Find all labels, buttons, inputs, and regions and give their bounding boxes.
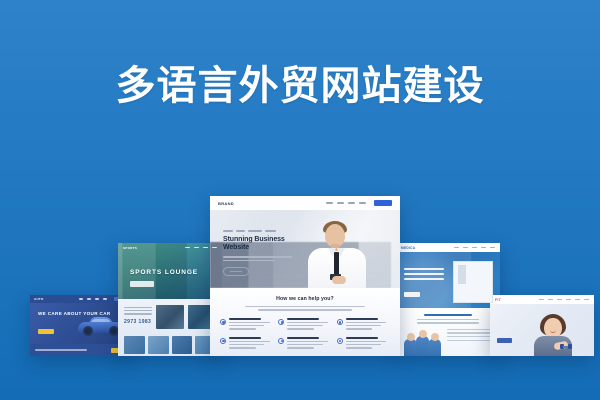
medical-body-text: [447, 329, 494, 356]
business-hero-title: Stunning Business Website: [223, 236, 295, 252]
nav-link[interactable]: [472, 247, 477, 248]
nav-link[interactable]: [185, 247, 190, 248]
nav-link[interactable]: [79, 298, 83, 299]
chart-icon: [337, 319, 343, 325]
mockup-sports-lounge-website[interactable]: SPORTS SPORTS LOUNGE 2973 1983: [118, 243, 222, 356]
nav-link[interactable]: [557, 299, 562, 300]
sports-stat: 2973 1983: [124, 319, 152, 325]
nav-link[interactable]: [539, 299, 544, 300]
nav-link[interactable]: [194, 247, 199, 248]
nav-link[interactable]: [548, 299, 553, 300]
nav-link[interactable]: [481, 247, 486, 248]
medical-split-row: [402, 329, 494, 356]
nav-link[interactable]: [203, 247, 208, 248]
business-hero: Stunning Business Website: [210, 210, 400, 288]
medical-nav-links: [454, 247, 495, 248]
car-footer-bar: [30, 344, 130, 356]
car-hero: WE CARE ABOUT YOUR CAR: [30, 303, 130, 344]
sports-tile-row: [124, 336, 216, 354]
feature-item-design[interactable]: [220, 318, 273, 330]
medical-section-title: [424, 314, 472, 316]
feature-item-development[interactable]: [278, 318, 331, 330]
medical-hero-title: [404, 268, 444, 283]
medical-section-subtitle: [417, 319, 480, 323]
business-help-section: How we can help you?: [210, 288, 400, 356]
nav-link[interactable]: [95, 298, 99, 299]
medical-hero-button[interactable]: [404, 292, 420, 297]
feature-item-marketing[interactable]: [337, 318, 390, 330]
business-logo: BRAND: [218, 201, 234, 206]
mockup-fitness-website[interactable]: FIT: [490, 295, 594, 356]
nav-link[interactable]: [212, 247, 217, 248]
user-icon: [220, 319, 226, 325]
nav-link[interactable]: [584, 299, 589, 300]
nav-link[interactable]: [87, 298, 91, 299]
medical-appointment-form[interactable]: [453, 261, 493, 303]
mockup-business-website[interactable]: BRAND Stunning Business Websi: [210, 196, 400, 356]
business-hero-eyebrow: [223, 230, 295, 232]
business-hero-subtitle: [223, 256, 295, 261]
fitness-hero: [490, 304, 594, 356]
feature-item-fast-support[interactable]: [337, 337, 390, 349]
mockup-medical-website[interactable]: MEDICA: [396, 243, 500, 356]
sports-logo: SPORTS: [123, 246, 137, 250]
medical-navbar: MEDICA: [396, 243, 500, 252]
nav-link[interactable]: [566, 299, 571, 300]
fitness-logo: FIT: [495, 298, 501, 302]
car-navbar: AUTO: [30, 295, 130, 303]
fitness-navbar: FIT: [490, 295, 594, 304]
sports-content: 2973 1983: [118, 299, 222, 356]
search-icon: [278, 338, 284, 344]
business-section-subtitle: [245, 306, 365, 311]
car-logo: AUTO: [34, 297, 44, 301]
business-feature-grid: [220, 318, 390, 349]
sports-tile[interactable]: [148, 336, 169, 354]
page-title: 多语言外贸网站建设: [0, 62, 600, 110]
business-section-title: How we can help you?: [220, 296, 390, 302]
medical-hero: [396, 252, 500, 308]
nav-link-about[interactable]: [337, 202, 344, 204]
nav-link[interactable]: [454, 247, 459, 248]
nav-link[interactable]: [575, 299, 580, 300]
businessman-illustration: [308, 216, 366, 288]
share-icon: [220, 338, 226, 344]
doctors-illustration: [402, 329, 442, 356]
business-hero-button[interactable]: [223, 267, 249, 276]
medical-logo: MEDICA: [401, 246, 415, 250]
business-nav-links: [326, 200, 392, 206]
sports-text-column: 2973 1983: [124, 305, 152, 329]
sports-tile[interactable]: [172, 336, 193, 354]
sports-hero-title: SPORTS LOUNGE: [130, 269, 198, 276]
nav-link[interactable]: [103, 298, 107, 299]
fitness-nav-links: [539, 299, 589, 300]
sports-nav-links: [185, 247, 217, 248]
feature-item-social-media[interactable]: [220, 337, 273, 349]
sports-tile[interactable]: [124, 336, 145, 354]
sports-row: 2973 1983: [124, 305, 216, 329]
fitness-hero-button[interactable]: [497, 338, 512, 343]
sports-navbar: SPORTS: [118, 243, 222, 252]
nav-link[interactable]: [463, 247, 468, 248]
banner-canvas: 多语言外贸网站建设 AUTO WE CARE ABOUT YOUR CAR: [0, 0, 600, 400]
car-hero-button[interactable]: [38, 329, 54, 334]
mockup-car-service-website[interactable]: AUTO WE CARE ABOUT YOUR CAR: [30, 295, 130, 356]
headset-icon: [337, 338, 343, 344]
car-footer-text: [35, 349, 87, 351]
medical-content: [396, 308, 500, 356]
nav-link[interactable]: [490, 247, 495, 248]
business-navbar: BRAND: [210, 196, 400, 210]
woman-with-dumbbell-illustration: [530, 312, 576, 356]
sports-hero-button[interactable]: [130, 281, 154, 287]
nav-link-blog[interactable]: [359, 202, 366, 204]
sports-photo: [156, 305, 184, 329]
business-hero-copy: Stunning Business Website: [223, 230, 295, 276]
business-contact-button[interactable]: [374, 200, 392, 206]
nav-link-pages[interactable]: [348, 202, 355, 204]
nav-link-home[interactable]: [326, 202, 333, 204]
feature-item-seo-friendly[interactable]: [278, 337, 331, 349]
form-input[interactable]: [464, 265, 466, 284]
window-icon: [278, 319, 284, 325]
